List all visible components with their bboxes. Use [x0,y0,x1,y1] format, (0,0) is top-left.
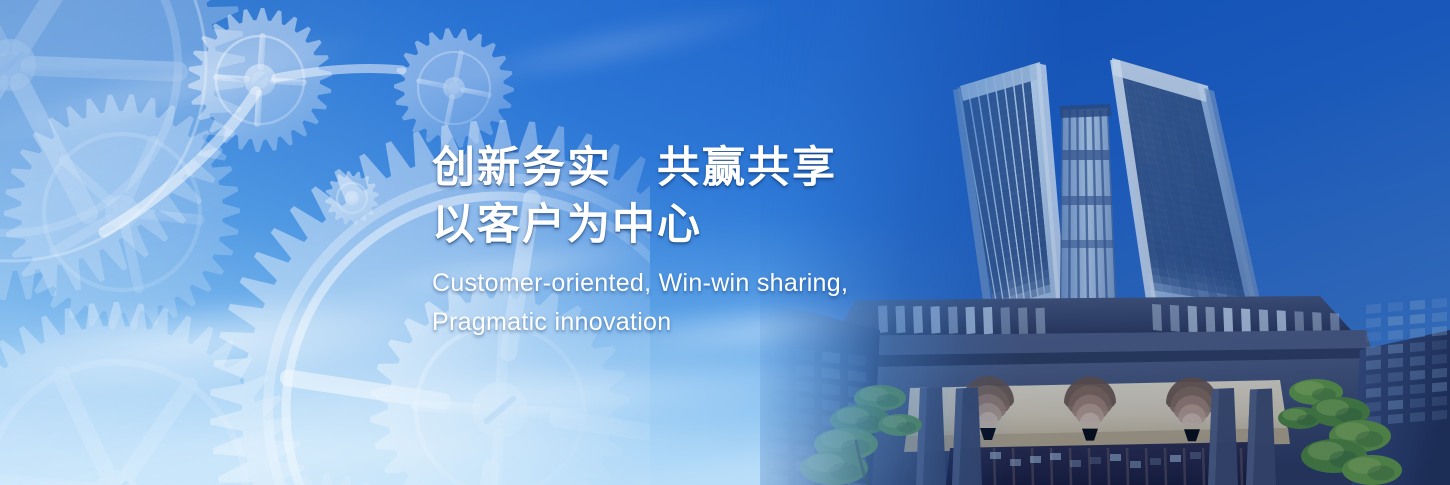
headline-line-2: 以客户为中心 [432,197,992,254]
subline: Customer-oriented, Win-win sharing, Prag… [432,264,992,342]
subline-line-2: Pragmatic innovation [432,303,992,342]
banner-copy: 创新务实 共赢共享 以客户为中心 Customer-oriented, Win-… [432,140,992,342]
headline-line-1: 创新务实 共赢共享 [432,140,992,197]
subline-line-1: Customer-oriented, Win-win sharing, [432,264,992,303]
corporate-banner: 创新务实 共赢共享 以客户为中心 Customer-oriented, Win-… [0,0,1450,485]
